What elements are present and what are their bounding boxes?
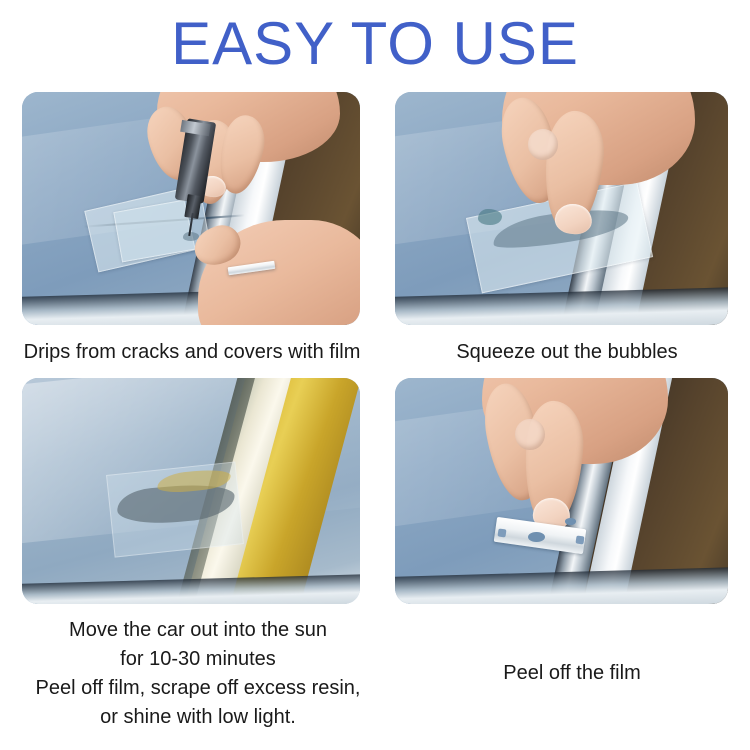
step-3-caption-line-1: Move the car out into the sun	[0, 616, 396, 645]
step-2-caption: Squeeze out the bubbles	[384, 338, 750, 366]
scene-peel-film	[395, 378, 728, 604]
knuckle-gap	[515, 419, 545, 451]
step-3-image	[22, 378, 360, 604]
step-4-image	[395, 378, 728, 604]
step-1-caption: Drips from cracks and covers with film	[0, 338, 384, 366]
scene-resin-application	[22, 92, 360, 325]
step-3-caption: Move the car out into the sun for 10-30 …	[0, 616, 396, 732]
step-4-caption: Peel off the film	[394, 659, 750, 687]
page-title: EASY TO USE	[0, 12, 750, 76]
knuckle-gap	[528, 129, 558, 159]
scene-squeeze-bubbles	[395, 92, 728, 325]
blade-hole	[528, 532, 545, 542]
step-3-caption-line-4: or shine with low light.	[0, 703, 396, 732]
scene-sun-curing	[22, 378, 360, 604]
step-3-caption-line-3: Peel off film, scrape off excess resin,	[0, 674, 396, 703]
step-2-image	[395, 92, 728, 325]
step-1-image	[22, 92, 360, 325]
trapped-bubble	[478, 209, 501, 225]
step-3-caption-line-2: for 10-30 minutes	[0, 645, 396, 674]
